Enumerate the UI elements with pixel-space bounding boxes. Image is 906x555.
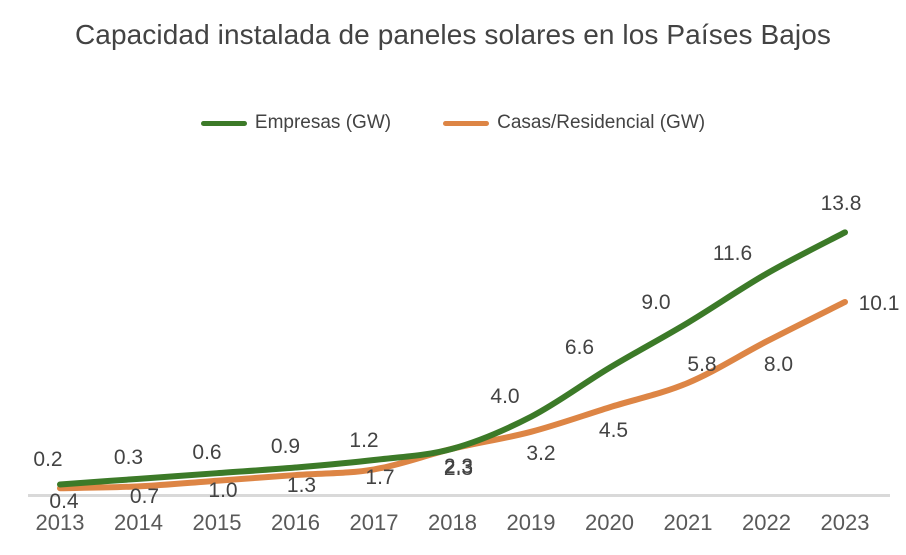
x-tick-label-2022: 2022 — [742, 510, 791, 536]
x-axis-labels: 2013201420152016201720182019202020212022… — [0, 510, 906, 550]
series-line-casas-residencial — [60, 302, 845, 488]
x-tick-label-2020: 2020 — [585, 510, 634, 536]
x-tick-label-2014: 2014 — [114, 510, 163, 536]
series-line-empresas — [60, 232, 845, 484]
x-tick-label-2018: 2018 — [428, 510, 477, 536]
x-tick-label-2016: 2016 — [271, 510, 320, 536]
x-tick-label-2017: 2017 — [350, 510, 399, 536]
x-tick-label-2023: 2023 — [821, 510, 870, 536]
x-tick-label-2015: 2015 — [193, 510, 242, 536]
solar-capacity-line-chart: Capacidad instalada de paneles solares e… — [0, 0, 906, 555]
x-tick-label-2013: 2013 — [36, 510, 85, 536]
x-tick-label-2019: 2019 — [507, 510, 556, 536]
plot-area — [0, 0, 906, 555]
x-tick-label-2021: 2021 — [664, 510, 713, 536]
